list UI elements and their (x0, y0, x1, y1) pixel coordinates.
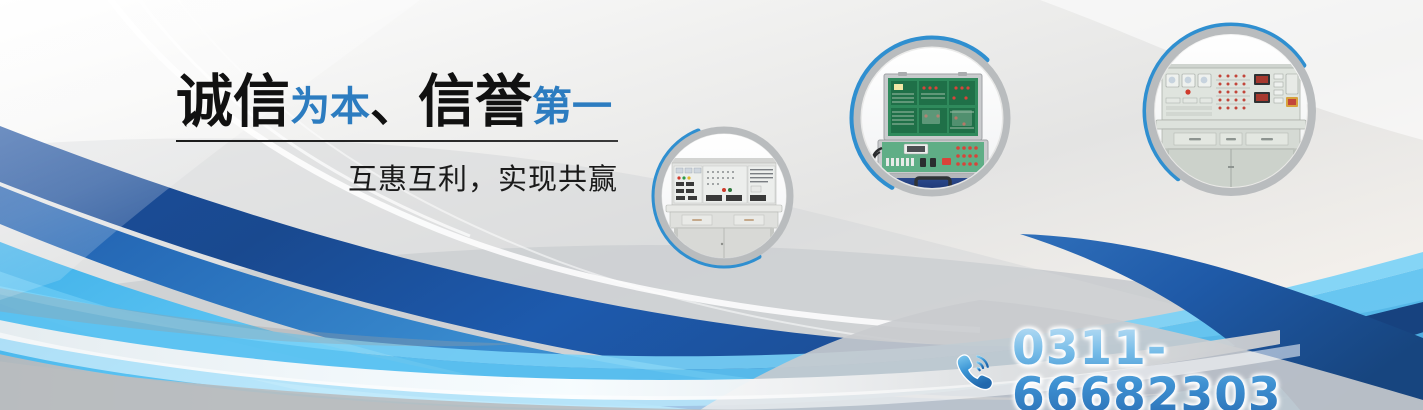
phone-number[interactable]: 0311-66682303 (1012, 325, 1423, 410)
product-photo-electrical-training-workbench-2[interactable] (1138, 18, 1324, 204)
phone-signal-icon (952, 347, 998, 397)
title-part-2: 为本 (290, 87, 370, 127)
product-photo-portable-electronics-training-case[interactable] (846, 32, 1018, 204)
page-title: 诚信 为本 、 信誉 第一 (176, 74, 624, 131)
title-part-1: 诚信 (176, 74, 290, 131)
promo-banner: 诚信 为本 、 信誉 第一 互惠互利，实现共赢 (0, 0, 1423, 410)
contact-phone[interactable]: 0311-66682303 (952, 325, 1423, 410)
title-divider (176, 140, 618, 142)
slogan-block: 诚信 为本 、 信誉 第一 互惠互利，实现共赢 (176, 74, 624, 198)
training-case-illustration (873, 72, 992, 194)
product-photo-electrical-training-workbench-1[interactable] (648, 120, 800, 272)
title-part-4: 第一 (532, 87, 612, 127)
slogan-subtitle: 互惠互利，实现共赢 (176, 156, 618, 198)
title-part-3: 信誉 (418, 74, 532, 131)
title-separator: 、 (370, 81, 418, 129)
